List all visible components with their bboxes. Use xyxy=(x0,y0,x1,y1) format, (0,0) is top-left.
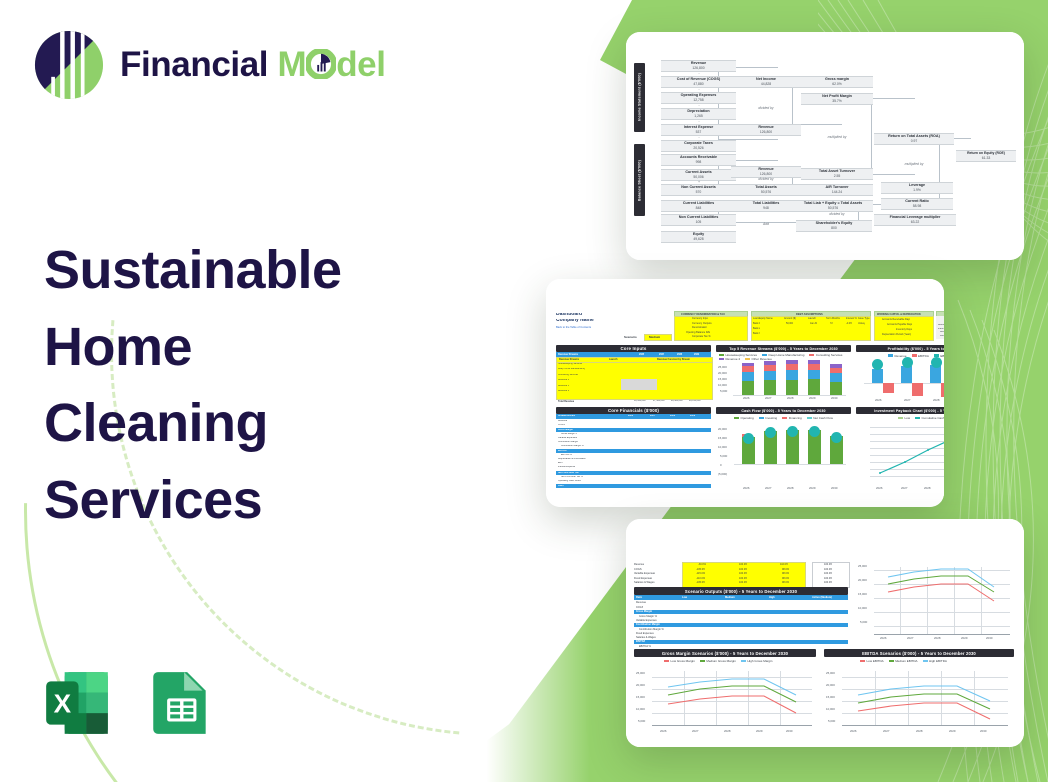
dupont-minus-2: - xyxy=(679,86,719,91)
dupont-op-add: Add xyxy=(731,222,801,226)
dupont-analysis-screenshot[interactable]: Income Statement ($'000) Balance Sheet (… xyxy=(626,32,1024,260)
svg-text:X: X xyxy=(54,688,72,718)
page-title-line-2: Home xyxy=(44,309,444,386)
dashboard-scenario-label: Scenario xyxy=(624,336,637,339)
investment-payback-chart[interactable]: Low Cumulative Cash Generated (Spent) xyxy=(856,414,944,496)
top-revenue-streams-chart[interactable]: Housekeeping Services Deep Home Manufact… xyxy=(716,352,851,400)
dupont-node-equity: Equity49,628 xyxy=(661,231,736,243)
profitability-chart[interactable]: Revenue EBITDA EBITDA % xyxy=(856,352,944,400)
legend-low-ebitda: Low EBITDA xyxy=(860,659,884,663)
dupont-node-non-current-liabilities: Non Current Liabilities105 xyxy=(661,214,736,226)
scenario-summary-lines xyxy=(874,559,1014,637)
brand-wordmark: Financial Mdel xyxy=(120,45,386,85)
dupont-node-ar-turnover: A/R Turnover144.24 xyxy=(801,184,873,196)
dashboard-screenshot[interactable]: Dashboard Company Name Back to the Table… xyxy=(546,279,944,507)
microsoft-excel-icon[interactable]: X xyxy=(40,666,114,740)
dupont-node-current-liabilities: Current Liabilities848 xyxy=(661,200,736,212)
dashboard-scenario-value-cell[interactable]: Medium xyxy=(644,334,672,341)
legend-high-ebitda: High EBITDA xyxy=(923,659,947,663)
dupont-node-revenue-2: Revenue126,800 xyxy=(731,124,801,136)
dupont-node-gross-margin: Gross margin62.0% xyxy=(801,76,873,88)
dupont-node-financial-leverage-multiplier: Financial Leverage multiplier63.22 xyxy=(874,214,956,226)
core-inputs-header: Core Inputs xyxy=(556,345,711,352)
scenario-ebitda-row xyxy=(634,640,848,645)
financial-model-circle-chart-icon xyxy=(32,28,106,102)
dupont-op-multiplied-1: multiplied by xyxy=(801,135,873,139)
gross-margin-legend: Low Gross Margin Medium Gross Margin Hig… xyxy=(664,659,772,663)
slide-canvas: Financial Mdel Sustainable Home Cleaning… xyxy=(0,0,1048,782)
ebitda-lines xyxy=(842,667,1010,729)
dupont-op-divided-3: divided by xyxy=(801,212,873,216)
dupont-node-accounts-receivable: Accounts Receivable998 xyxy=(661,154,736,166)
legend-financing: Financing xyxy=(782,416,802,420)
dupont-node-total-liabilities: Total Liabilities948 xyxy=(731,200,801,212)
brand-logo[interactable]: Financial Mdel xyxy=(32,28,386,102)
dupont-node-roe: Return on Equity (ROE)61.33 xyxy=(956,150,1016,162)
dashboard-back-link[interactable]: Back to the Table of Contents xyxy=(556,326,591,329)
dupont-minus-1: - xyxy=(679,70,719,75)
scenario-contribution-margin-row xyxy=(634,623,848,628)
dupont-minus-3: - xyxy=(679,102,719,107)
legend-investing: Investing xyxy=(759,416,778,420)
dupont-op-divided-2: divided by xyxy=(731,177,801,181)
dupont-balance-sheet-band: Balance Sheet ($'000) xyxy=(634,144,645,216)
core-financials-header: Core Financials ($'000) xyxy=(556,407,711,414)
profitability-chart-title: Profitability ($'000) - 5 Years to Decem… xyxy=(856,345,944,352)
cash-flow-chart[interactable]: Operating Investing Financing Net Cash F… xyxy=(716,414,851,496)
legend-cumulative-cash: Cumulative Cash Generated (Spent) xyxy=(915,416,944,420)
google-sheets-icon[interactable] xyxy=(144,666,218,740)
legend-med-ebitda: Medium EBITDA xyxy=(889,659,918,663)
legend-item-2: Consulting Services xyxy=(809,353,842,357)
scenario-summary-line-chart[interactable]: 25,000 20,000 15,000 10,000 5,000 xyxy=(858,559,1014,649)
page-title: Sustainable Home Cleaning Services xyxy=(44,232,444,539)
page-title-line-4: Services xyxy=(44,462,444,539)
core-inputs-blank-cells xyxy=(621,379,657,390)
core-financials-gross-margin-row xyxy=(556,428,711,432)
cash-flow-legend: Operating Investing Financing Net Cash F… xyxy=(734,416,833,420)
file-format-icons: X xyxy=(40,666,218,740)
gross-margin-lines xyxy=(652,667,814,729)
legend-item-3: Revenue 4 xyxy=(719,357,740,361)
legend-net-cash: Net Cash Flow xyxy=(807,416,833,420)
brand-pie-o-icon xyxy=(306,48,336,78)
dupont-node-shareholders-equity: Shareholder's Equity800 xyxy=(796,220,872,232)
core-financials-npat-row xyxy=(556,471,711,475)
dupont-node-non-current-assets: Non Current Assets570 xyxy=(661,184,736,196)
legend-low-gm: Low Gross Margin xyxy=(664,659,695,663)
payback-line xyxy=(870,422,944,480)
ebitda-scenarios-title: EBITDA Scenarios ($'000) - 5 Years to De… xyxy=(824,649,1014,657)
dupont-node-total-liab-equity: Total Liab + Equity = Total Assets50,576 xyxy=(793,200,873,212)
ebitda-legend: Low EBITDA Medium EBITDA High EBITDA xyxy=(860,659,947,663)
cash-flow-chart-title: Cash Flow ($'000) - 5 Years to December … xyxy=(716,407,851,414)
dupont-node-net-profit-margin: Net Profit Margin35.7% xyxy=(801,93,873,105)
legend-med-gm: Medium Gross Margin xyxy=(700,659,736,663)
top-revenue-streams-chart-title: Top 5 Revenue Streams ($'000) - 5 Years … xyxy=(716,345,851,352)
dashboard-sheet: Dashboard Company Name Back to the Table… xyxy=(546,279,944,507)
core-financials-cash-row xyxy=(556,484,711,488)
dashboard-company-name: Company Name xyxy=(556,319,594,322)
dashboard-title: Dashboard xyxy=(556,313,582,316)
legend-ebitda: EBITDA xyxy=(912,354,929,358)
dupont-node-corporate-taxes: Corporate Taxes20,526 xyxy=(661,140,736,152)
legend-high-gm: High Gross Margin xyxy=(741,659,773,663)
dupont-income-statement-band: Income Statement ($'000) xyxy=(634,63,645,132)
core-financials-ebitda-row xyxy=(556,449,711,453)
scenario-gross-margin-row xyxy=(634,610,848,615)
dupont-node-total-assets: Total Assets50,576 xyxy=(731,184,801,196)
gross-margin-scenarios-title: Gross Margin Scenarios ($'000) - 5 Years… xyxy=(634,649,816,657)
page-title-line-3: Cleaning xyxy=(44,385,444,462)
dupont-node-leverage: Leverage1.9% xyxy=(881,182,953,194)
core-financials-col-header xyxy=(556,414,711,419)
dupont-minus-5: - xyxy=(679,134,719,139)
gross-margin-scenarios-chart[interactable]: Low Gross Margin Medium Gross Margin Hig… xyxy=(634,657,816,739)
payback-legend: Low Cumulative Cash Generated (Spent) xyxy=(898,416,944,420)
brand-name-primary: Financial xyxy=(120,45,268,84)
ebitda-scenarios-chart[interactable]: Low EBITDA Medium EBITDA High EBITDA 25,… xyxy=(824,657,1014,739)
currency-panel-body[interactable] xyxy=(674,316,748,341)
legend-payback-year: Low xyxy=(898,416,910,420)
legend-operating: Operating xyxy=(734,416,754,420)
dupont-node-roa: Return on Total Assets (ROA)0.97 xyxy=(874,133,954,145)
dupont-node-current-ratio: Current Ratio58.98 xyxy=(881,198,953,210)
scenario-sheet: Revenue COGS Variable Expenses Fixed Exp… xyxy=(626,519,1024,747)
page-title-line-1: Sustainable xyxy=(44,232,444,309)
scenario-analysis-screenshot[interactable]: Revenue COGS Variable Expenses Fixed Exp… xyxy=(626,519,1024,747)
dupont-sheet: Income Statement ($'000) Balance Sheet (… xyxy=(626,32,1024,260)
dupont-minus-4: - xyxy=(679,118,719,123)
investment-payback-chart-title: Investment Payback Chart ($'000) - 5 Yea… xyxy=(856,407,944,414)
brand-name-secondary: Mdel xyxy=(277,45,385,84)
dupont-op-divided-1: divided by xyxy=(731,106,801,110)
scenario-outputs-header: Scenario Outputs ($'000) - 5 Years to De… xyxy=(634,587,848,595)
dupont-op-multiplied-2: multiplied by xyxy=(874,162,954,166)
dupont-node-net-income: Net Income44,828 xyxy=(731,76,801,88)
dupont-node-total-asset-turnover: Total Asset Turnover2.55 xyxy=(801,168,873,180)
